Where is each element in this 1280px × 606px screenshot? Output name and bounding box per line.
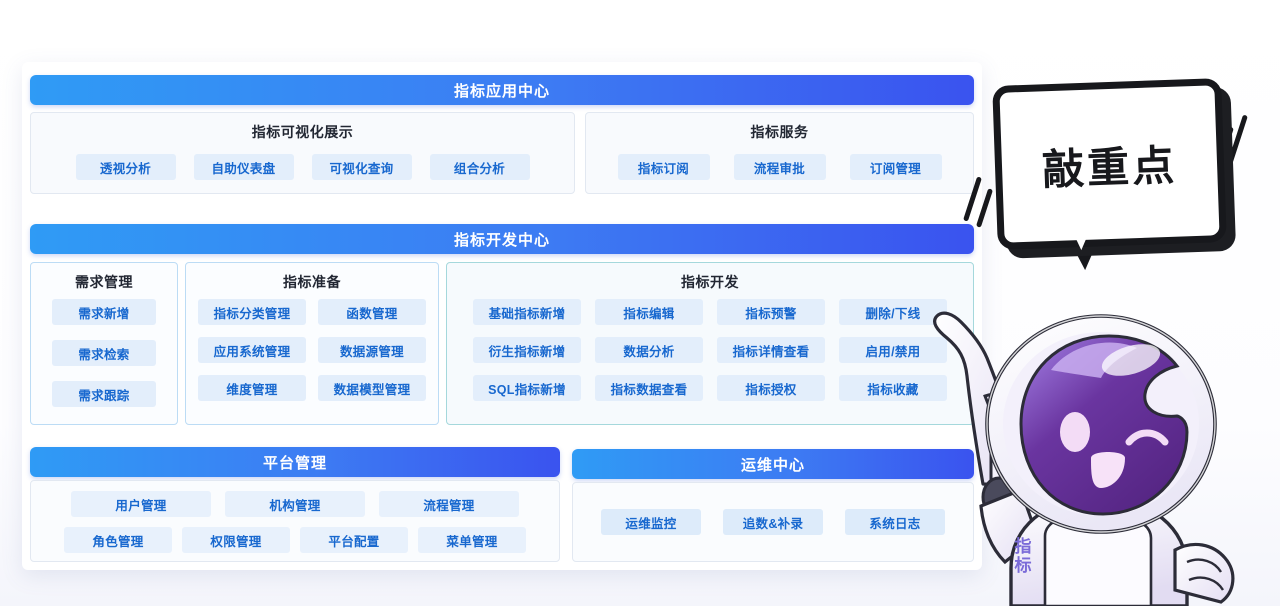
section-header-ops-center: 运维中心 [572,449,974,479]
chip-visual-query[interactable]: 可视化查询 [312,154,412,180]
chip-requirement-search[interactable]: 需求检索 [52,340,156,366]
bubble-tail-fill [1068,219,1098,251]
chip-grid-development: 基础指标新增 指标编辑 指标预警 删除/下线 衍生指标新增 数据分析 指标详情查… [447,299,973,401]
chip-row-ops: 运维监控 追数&补录 系统日志 [573,509,973,535]
group-title-visualization: 指标可视化展示 [31,122,574,142]
chip-row-metric-service: 指标订阅 流程审批 订阅管理 [586,154,973,180]
chip-metric-alert[interactable]: 指标预警 [717,299,825,325]
chip-user-admin[interactable]: 用户管理 [71,491,211,517]
chip-org-admin[interactable]: 机构管理 [225,491,365,517]
chip-combined-analysis[interactable]: 组合分析 [430,154,530,180]
group-panel-development: 指标开发 基础指标新增 指标编辑 指标预警 删除/下线 衍生指标新增 数据分析 … [446,262,974,425]
chip-process-approval[interactable]: 流程审批 [734,154,826,180]
chip-metric-subscribe[interactable]: 指标订阅 [618,154,710,180]
section-header-platform-admin: 平台管理 [30,447,560,477]
chip-process-admin[interactable]: 流程管理 [379,491,519,517]
group-title-requirement: 需求管理 [31,272,177,292]
chip-ops-monitor[interactable]: 运维监控 [601,509,701,535]
group-panel-metric-service: 指标服务 指标订阅 流程审批 订阅管理 [585,112,974,194]
chip-permission-admin[interactable]: 权限管理 [182,527,290,553]
chip-metric-edit[interactable]: 指标编辑 [595,299,703,325]
chip-sql-metric-new[interactable]: SQL指标新增 [473,375,581,401]
group-panel-preparation: 指标准备 指标分类管理 函数管理 应用系统管理 数据源管理 维度管理 数据模型管… [185,262,439,425]
mascot-eye-left [1060,412,1090,452]
chip-data-analysis[interactable]: 数据分析 [595,337,703,363]
chip-app-system-admin[interactable]: 应用系统管理 [198,337,306,363]
chip-subscription-admin[interactable]: 订阅管理 [850,154,942,180]
mascot-illustration [925,300,1280,606]
group-panel-platform-admin: 用户管理 机构管理 流程管理 角色管理 权限管理 平台配置 菜单管理 [30,480,560,562]
mascot-robot: 指 标 [925,300,1280,606]
chip-base-metric-new[interactable]: 基础指标新增 [473,299,581,325]
chip-metric-data-view[interactable]: 指标数据查看 [595,375,703,401]
chip-function-admin[interactable]: 函数管理 [318,299,426,325]
emphasis-streak-right-2 [1227,114,1248,165]
chip-touship-analysis[interactable]: 透视分析 [76,154,176,180]
group-title-development: 指标开发 [447,272,973,292]
chip-row-visualization: 透视分析 自助仪表盘 可视化查询 组合分析 [31,154,574,180]
chip-derived-metric-new[interactable]: 衍生指标新增 [473,337,581,363]
chip-datasource-admin[interactable]: 数据源管理 [318,337,426,363]
chip-requirement-new[interactable]: 需求新增 [52,299,156,325]
chip-metric-authorize[interactable]: 指标授权 [717,375,825,401]
chip-platform-config[interactable]: 平台配置 [300,527,408,553]
section-title-ops-center: 运维中心 [741,454,805,475]
section-title-dev-center: 指标开发中心 [454,229,550,250]
chip-row-platform-2: 角色管理 权限管理 平台配置 菜单管理 [31,527,559,553]
group-title-metric-service: 指标服务 [586,122,973,142]
bubble-text: 敲重点 [1041,131,1178,197]
group-panel-ops-center: 运维监控 追数&补录 系统日志 [572,482,974,562]
chip-metric-detail-view[interactable]: 指标详情查看 [717,337,825,363]
chip-row-platform-1: 用户管理 机构管理 流程管理 [31,491,559,517]
chip-role-admin[interactable]: 角色管理 [64,527,172,553]
group-panel-visualization: 指标可视化展示 透视分析 自助仪表盘 可视化查询 组合分析 [30,112,575,194]
chip-backfill-data[interactable]: 追数&补录 [723,509,823,535]
chip-metric-category-admin[interactable]: 指标分类管理 [198,299,306,325]
section-title-platform-admin: 平台管理 [263,452,327,473]
chip-col-requirement: 需求新增 需求检索 需求跟踪 [31,299,177,407]
mascot-chest-char-2: 标 [1011,556,1035,575]
bubble-body: 敲重点 [992,78,1227,250]
chip-menu-admin[interactable]: 菜单管理 [418,527,526,553]
section-header-dev-center: 指标开发中心 [30,224,974,254]
chip-grid-preparation: 指标分类管理 函数管理 应用系统管理 数据源管理 维度管理 数据模型管理 [186,299,438,401]
screen-root: 指标应用中心 指标可视化展示 透视分析 自助仪表盘 可视化查询 组合分析 指标服… [0,0,1280,606]
chip-data-model-admin[interactable]: 数据模型管理 [318,375,426,401]
group-title-preparation: 指标准备 [186,272,438,292]
mascot-face [1021,336,1187,514]
group-panel-requirement: 需求管理 需求新增 需求检索 需求跟踪 [30,262,178,425]
chip-self-dashboard[interactable]: 自助仪表盘 [194,154,294,180]
mascot-chest-char-1: 指 [1011,537,1035,556]
callout-speech-bubble: 敲重点 [985,70,1235,290]
chip-dimension-admin[interactable]: 维度管理 [198,375,306,401]
chip-requirement-track[interactable]: 需求跟踪 [52,381,156,407]
section-header-app-center: 指标应用中心 [30,75,974,105]
section-title-app-center: 指标应用中心 [454,80,550,101]
mascot-chest-label: 指 标 [1011,537,1035,575]
architecture-diagram-card: 指标应用中心 指标可视化展示 透视分析 自助仪表盘 可视化查询 组合分析 指标服… [22,62,982,570]
